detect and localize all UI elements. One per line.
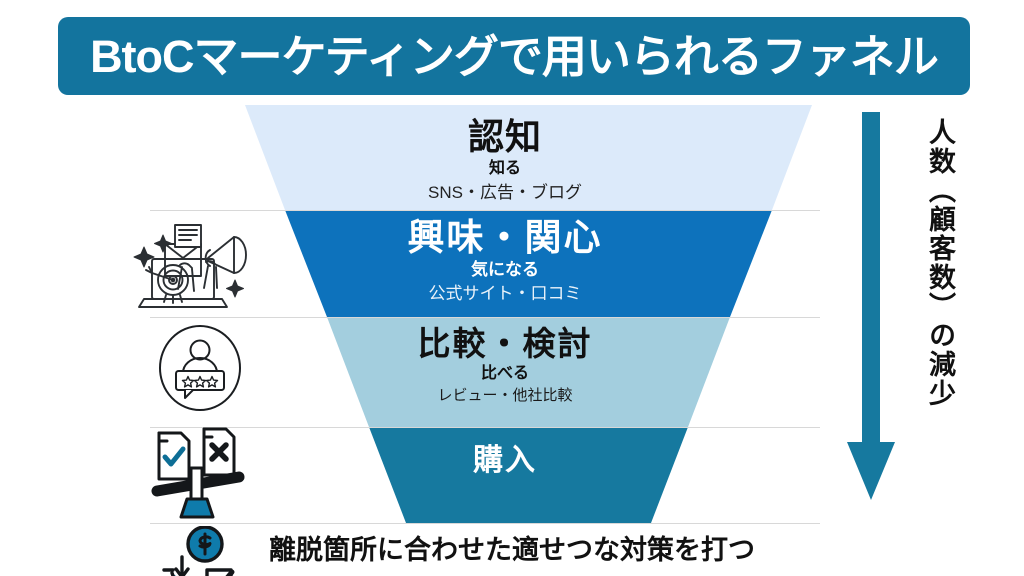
megaphone-mail-target-laptop-icon — [130, 217, 258, 312]
decrease-axis-caption: 人数（顧客数）の減少 — [896, 118, 954, 448]
infographic-canvas: BtoCマーケティングで用いられるファネル 認知 知る SNS・広告・ブログ — [0, 0, 1024, 576]
page-title: BtoCマーケティングで用いられるファネル — [90, 34, 938, 79]
person-star-review-icon — [152, 321, 248, 416]
title-banner: BtoCマーケティングで用いられるファネル — [58, 17, 970, 95]
funnel-tier-purchase-shape — [369, 427, 688, 523]
decrease-arrow-icon — [845, 112, 897, 502]
funnel-tier-interest-shape — [285, 210, 772, 317]
footer-note: 離脱箇所に合わせた適せつな対策を打つ — [0, 528, 1024, 567]
funnel-tier-comparison-shape — [327, 317, 730, 427]
funnel-tier-awareness-shape — [245, 105, 812, 210]
balance-scale-check-cross-icon — [143, 421, 253, 519]
